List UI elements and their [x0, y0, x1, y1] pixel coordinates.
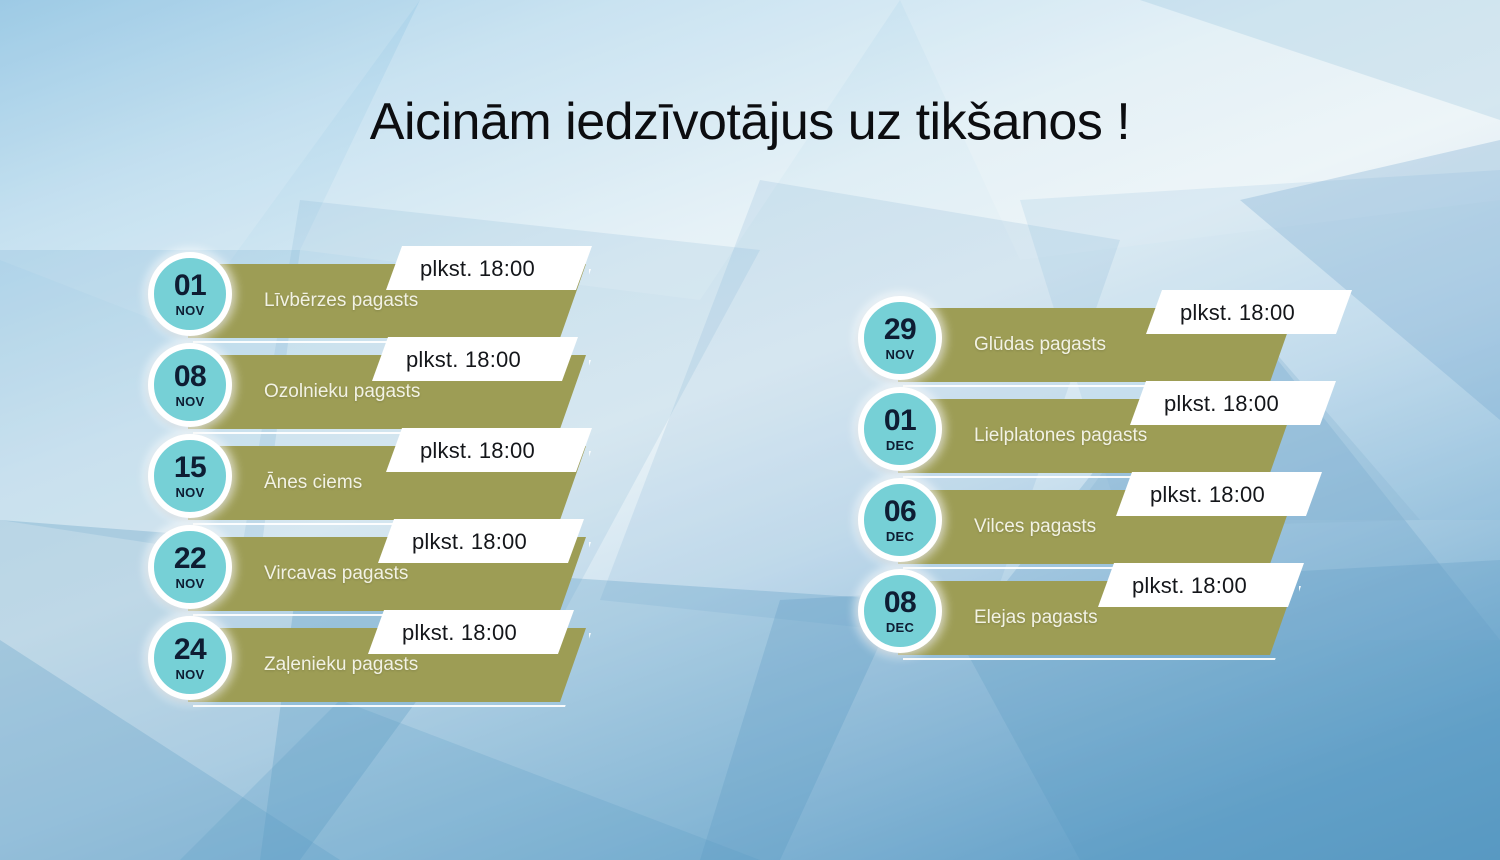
event-venue-label: Ānes ciems — [264, 472, 362, 494]
event-time-label: plkst. 18:00 — [1130, 381, 1336, 425]
event-date-badge: 06DEC — [858, 478, 942, 562]
event-venue-label: Līvbērzes pagasts — [264, 290, 418, 312]
event-date-day: 06 — [884, 497, 916, 527]
event-date-day: 29 — [884, 315, 916, 345]
event-date-day: 08 — [884, 588, 916, 618]
event-date-month: DEC — [886, 530, 914, 543]
event-time-label: plkst. 18:00 — [372, 337, 578, 381]
event-date-badge: 01DEC — [858, 387, 942, 471]
event-venue-label: Vilces pagasts — [974, 516, 1096, 538]
event-venue-label: Ozolnieku pagasts — [264, 381, 420, 403]
event-date-month: DEC — [886, 439, 914, 452]
event-date-month: NOV — [175, 486, 204, 499]
event-time-text: plkst. 18:00 — [406, 347, 521, 373]
event-time-label: plkst. 18:00 — [1098, 563, 1304, 607]
event-time-label: plkst. 18:00 — [368, 610, 574, 654]
event-time-text: plkst. 18:00 — [1180, 300, 1295, 326]
event-time-text: plkst. 18:00 — [1150, 482, 1265, 508]
event-date-month: DEC — [886, 621, 914, 634]
event-date-badge: 29NOV — [858, 296, 942, 380]
event-date-day: 24 — [174, 635, 206, 665]
event-time-text: plkst. 18:00 — [420, 256, 535, 282]
poster-canvas: Aicinām iedzīvotājus uz tikšanos ! Līvbē… — [0, 0, 1500, 860]
event-date-month: NOV — [175, 304, 204, 317]
event-time-text: plkst. 18:00 — [1132, 573, 1247, 599]
event-venue-label: Zaļenieku pagasts — [264, 654, 418, 676]
event-venue-label: Lielplatones pagasts — [974, 425, 1147, 447]
event-venue-label: Glūdas pagasts — [974, 334, 1106, 356]
event-date-badge: 08NOV — [148, 343, 232, 427]
event-date-day: 22 — [174, 544, 206, 574]
event-date-month: NOV — [175, 395, 204, 408]
event-date-badge: 01NOV — [148, 252, 232, 336]
event-time-text: plkst. 18:00 — [420, 438, 535, 464]
event-time-label: plkst. 18:00 — [386, 428, 592, 472]
event-time-label: plkst. 18:00 — [378, 519, 584, 563]
event-date-month: NOV — [175, 577, 204, 590]
event-date-day: 01 — [884, 406, 916, 436]
event-date-day: 08 — [174, 362, 206, 392]
event-date-month: NOV — [885, 348, 914, 361]
event-time-label: plkst. 18:00 — [386, 246, 592, 290]
event-date-day: 01 — [174, 271, 206, 301]
event-time-text: plkst. 18:00 — [1164, 391, 1279, 417]
event-date-month: NOV — [175, 668, 204, 681]
event-date-badge: 08DEC — [858, 569, 942, 653]
event-venue-label: Elejas pagasts — [974, 607, 1098, 629]
event-time-label: plkst. 18:00 — [1146, 290, 1352, 334]
page-title: Aicinām iedzīvotājus uz tikšanos ! — [0, 92, 1500, 152]
event-time-label: plkst. 18:00 — [1116, 472, 1322, 516]
event-time-text: plkst. 18:00 — [412, 529, 527, 555]
event-date-day: 15 — [174, 453, 206, 483]
event-venue-label: Vircavas pagasts — [264, 563, 408, 585]
event-date-badge: 22NOV — [148, 525, 232, 609]
event-time-text: plkst. 18:00 — [402, 620, 517, 646]
event-date-badge: 24NOV — [148, 616, 232, 700]
event-date-badge: 15NOV — [148, 434, 232, 518]
